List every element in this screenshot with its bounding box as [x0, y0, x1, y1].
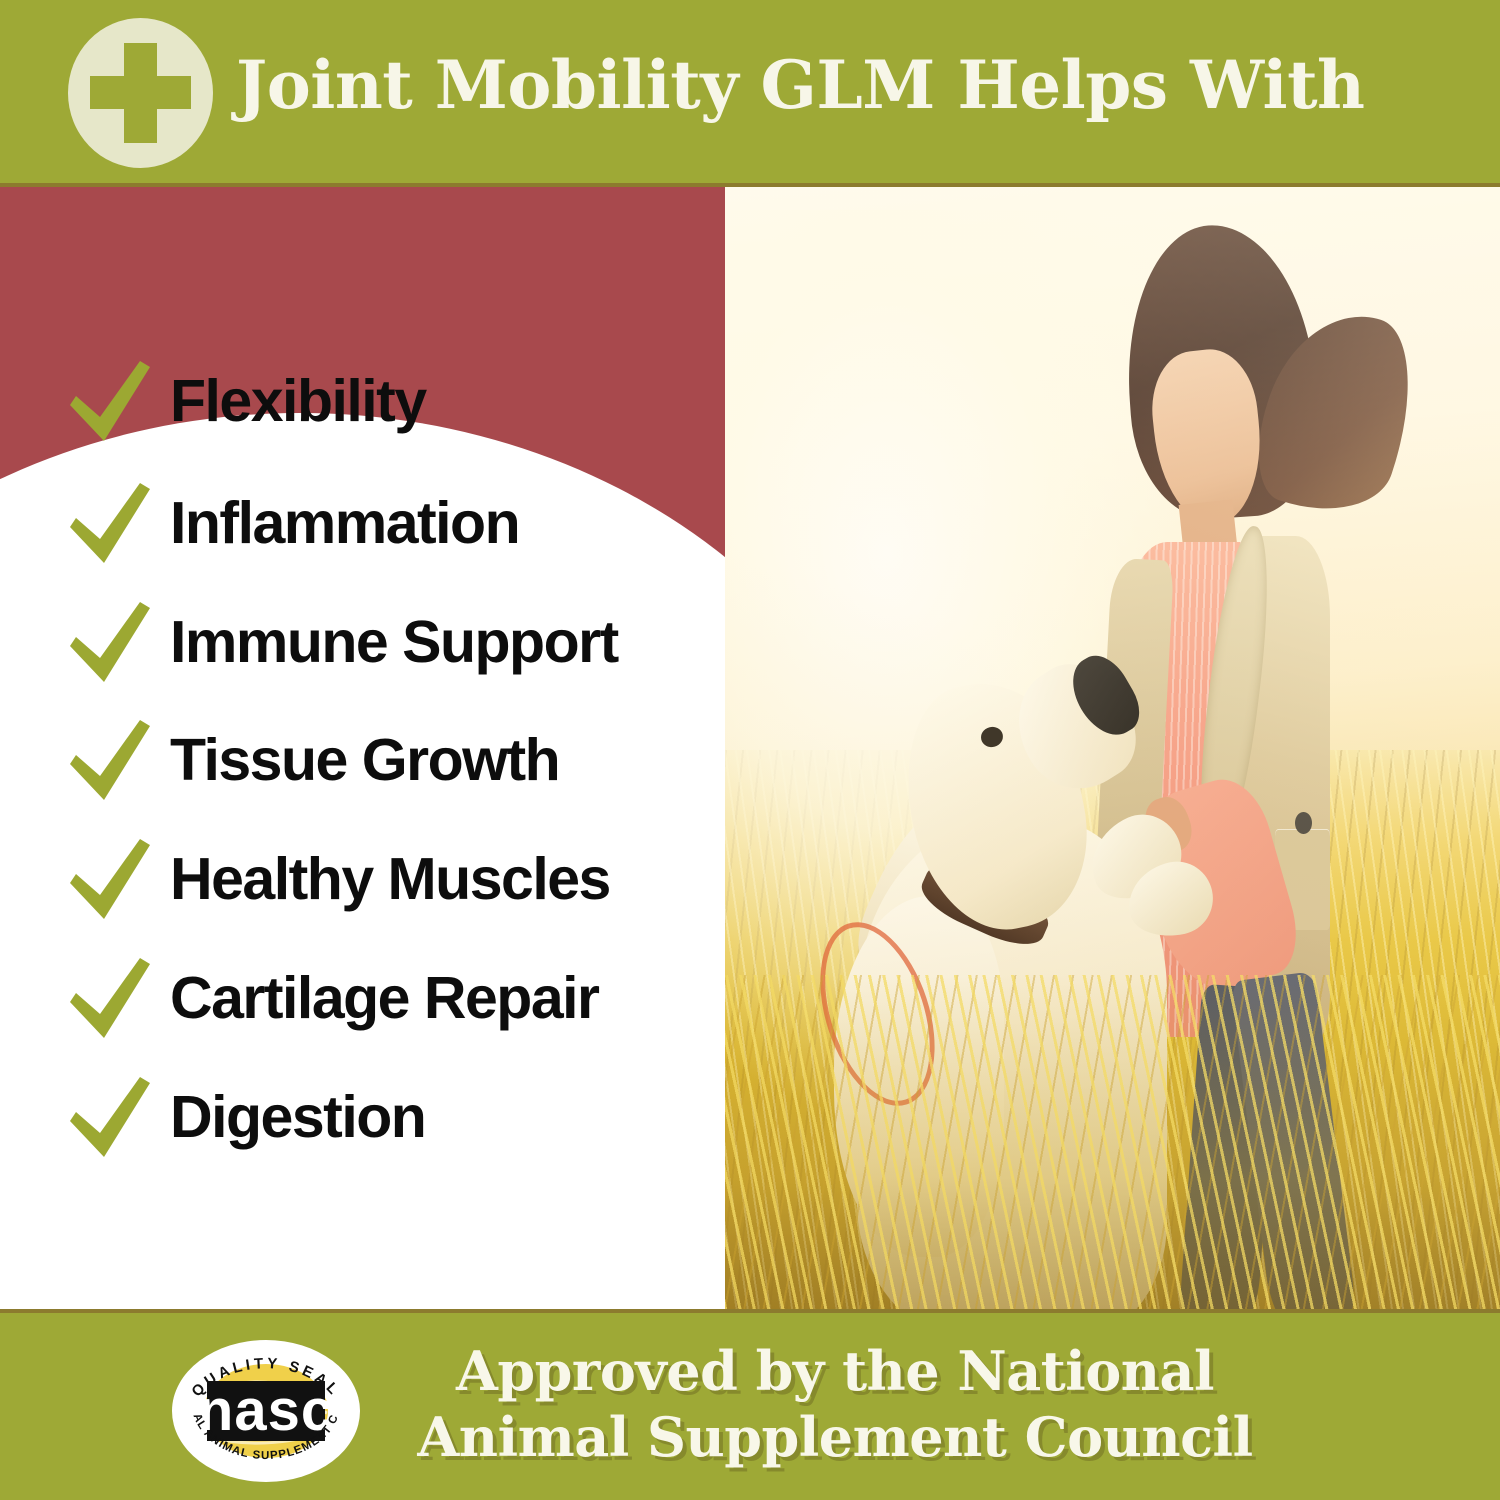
footer-line-2: Animal Supplement Council — [395, 1404, 1275, 1470]
checkmark-icon — [62, 952, 158, 1044]
list-item-label: Cartilage Repair — [170, 964, 599, 1032]
checkmark-icon — [62, 596, 158, 688]
medical-cross-icon — [68, 18, 213, 168]
list-item-label: Digestion — [170, 1083, 425, 1151]
list-item: Digestion — [62, 1071, 425, 1163]
photo-warm-tone-overlay — [725, 187, 1500, 1313]
list-item: Flexibility — [62, 355, 426, 447]
nasc-quality-seal: nasc QUALITY SEAL NATIONAL ANIMAL SUPPLE… — [167, 1337, 365, 1485]
list-item: Inflammation — [62, 477, 519, 569]
list-item: Immune Support — [62, 596, 618, 688]
benefit-list: Flexibility Inflammation Immune Support — [0, 187, 725, 1313]
list-item-label: Inflammation — [170, 489, 519, 557]
list-item-label: Healthy Muscles — [170, 845, 610, 913]
list-item: Healthy Muscles — [62, 833, 610, 925]
page-title: Joint Mobility GLM Helps With — [236, 46, 1365, 124]
product-infographic: Joint Mobility GLM Helps With Flexibilit… — [0, 0, 1500, 1500]
checkmark-icon — [62, 714, 158, 806]
list-item: Cartilage Repair — [62, 952, 599, 1044]
checkmark-icon — [62, 477, 158, 569]
checkmark-icon — [62, 833, 158, 925]
seal-acronym: nasc — [198, 1378, 334, 1443]
list-item-label: Immune Support — [170, 608, 618, 676]
checkmark-icon — [62, 1071, 158, 1163]
footer-line-1: Approved by the National — [395, 1338, 1275, 1404]
list-item-label: Tissue Growth — [170, 726, 559, 794]
footer-approval-text: Approved by the National Animal Suppleme… — [395, 1338, 1275, 1470]
list-item: Tissue Growth — [62, 714, 559, 806]
lifestyle-photo — [725, 187, 1500, 1313]
list-item-label: Flexibility — [170, 367, 426, 435]
checkmark-icon — [62, 355, 158, 447]
cross-horizontal-bar — [90, 76, 191, 109]
